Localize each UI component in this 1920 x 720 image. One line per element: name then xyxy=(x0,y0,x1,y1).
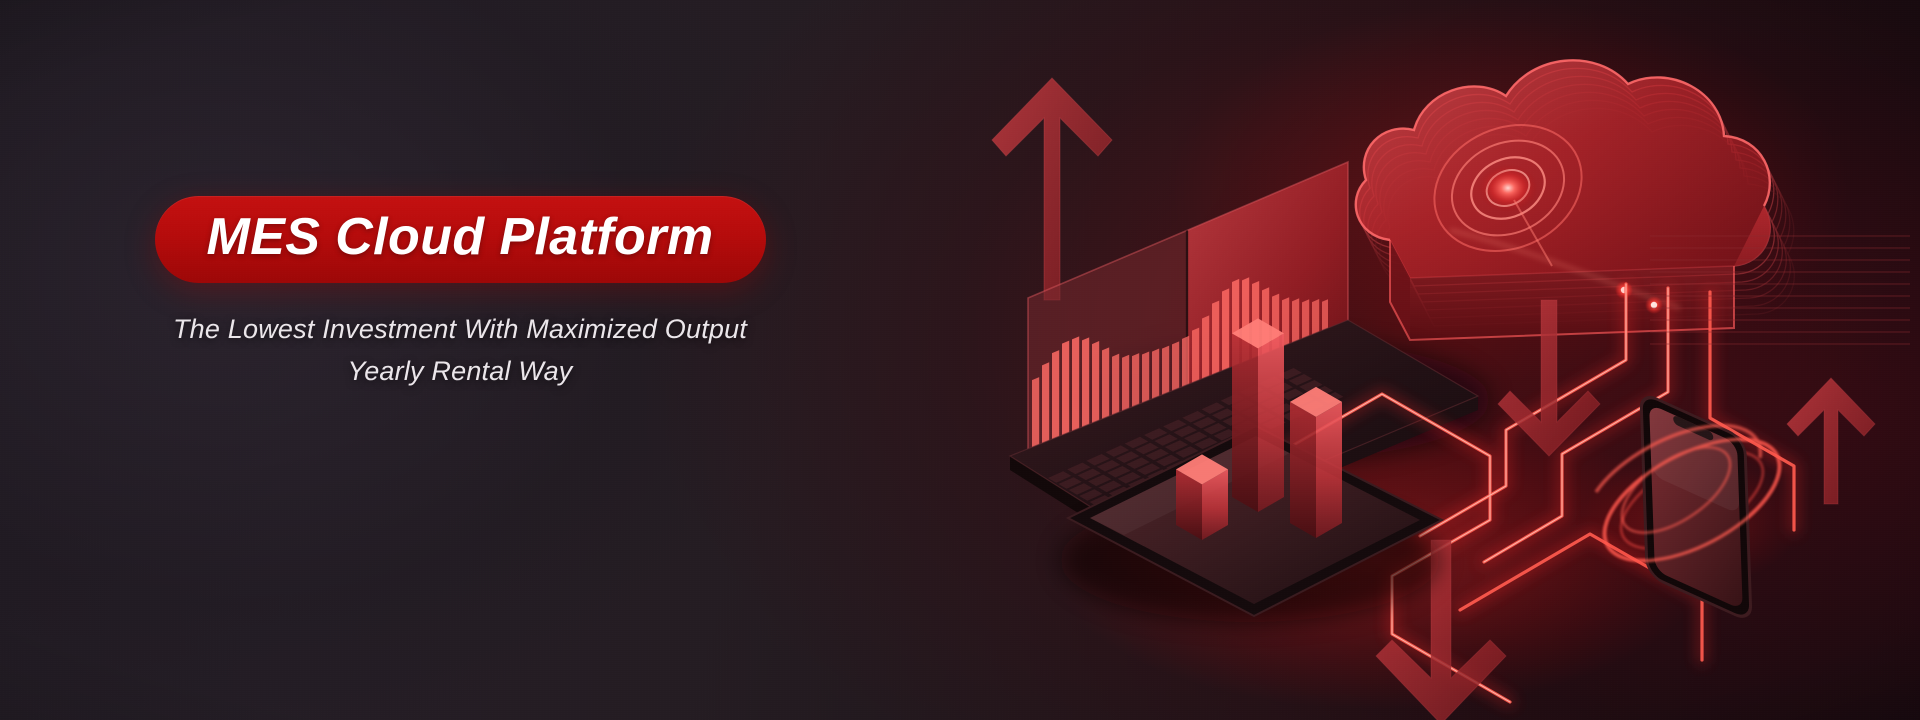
arrow-up-left-icon xyxy=(992,78,1112,300)
arrow-up-right-icon xyxy=(1787,378,1875,504)
title-pill: MES Cloud Platform xyxy=(155,196,766,283)
cloud-core-glow xyxy=(1478,164,1538,212)
tablet-bar xyxy=(1176,454,1228,540)
hero-banner: MES Cloud Platform The Lowest Investment… xyxy=(0,0,1920,720)
hero-text-block: MES Cloud Platform The Lowest Investment… xyxy=(0,196,920,393)
tablet-bar xyxy=(1232,318,1284,512)
tablet-bar xyxy=(1290,387,1342,538)
page-title: MES Cloud Platform xyxy=(207,210,714,265)
laptop-chart-bar xyxy=(1222,288,1229,381)
subtitle-block: The Lowest Investment With Maximized Out… xyxy=(0,309,920,393)
subtitle-line-1: The Lowest Investment With Maximized Out… xyxy=(0,309,920,351)
cloud-platform-illustration xyxy=(950,0,1920,720)
subtitle-line-2: Yearly Rental Way xyxy=(0,351,920,393)
